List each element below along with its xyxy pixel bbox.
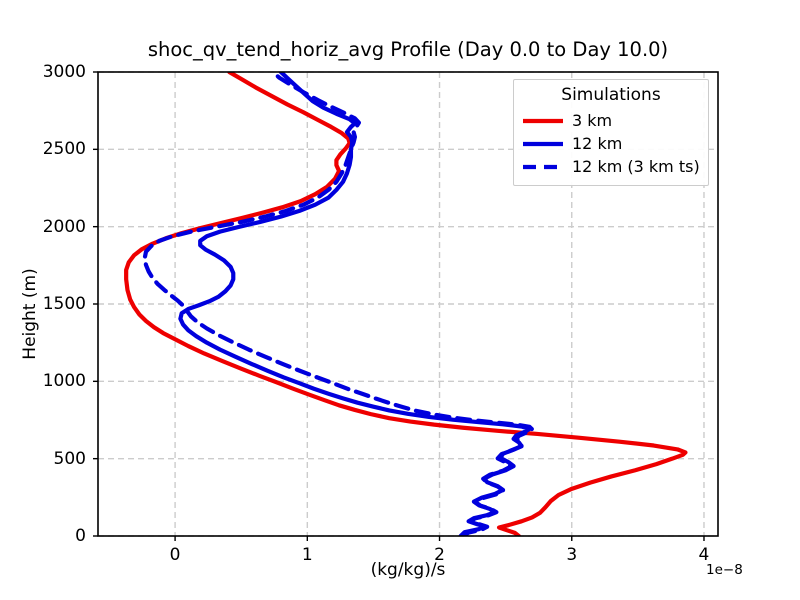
legend-color-swatch [522,114,564,128]
y-tick-label: 2500 [6,139,86,159]
y-axis-label: Height (m) [20,214,40,414]
legend-item-label: 12 km (3 km ts) [572,157,700,176]
y-tick-label: 1500 [6,294,86,314]
legend-color-swatch [522,160,564,174]
legend-item-1[interactable]: 12 km [522,132,700,155]
x-axis-label: (kg/kg)/s [98,560,718,580]
legend-entries: 3 km12 km12 km (3 km ts) [522,109,700,178]
y-tick-label: 1000 [6,371,86,391]
y-tick-label: 500 [6,449,86,469]
legend-item-2[interactable]: 12 km (3 km ts) [522,155,700,178]
y-tick-label: 0 [6,526,86,546]
legend-color-swatch [522,137,564,151]
figure-canvas: shoc_qv_tend_horiz_avg Profile (Day 0.0 … [0,0,800,600]
legend: Simulations 3 km12 km12 km (3 km ts) [513,79,709,186]
legend-title: Simulations [522,85,700,105]
legend-item-0[interactable]: 3 km [522,109,700,132]
x-axis-exponent-label: 1e−8 [706,562,743,578]
y-tick-label: 3000 [6,62,86,82]
y-tick-label: 2000 [6,217,86,237]
legend-item-label: 3 km [572,111,612,130]
legend-item-label: 12 km [572,134,622,153]
